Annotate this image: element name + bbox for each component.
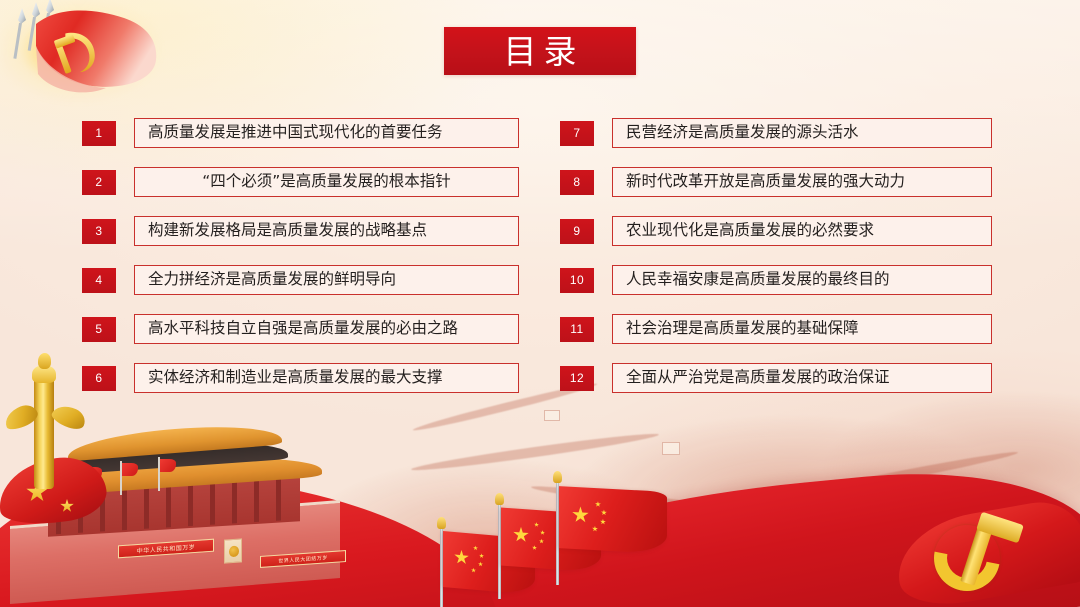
- contents-item[interactable]: 9农业现代化是高质量发展的必然要求: [560, 216, 992, 246]
- contents-item-box[interactable]: 人民幸福安康是高质量发展的最终目的: [612, 265, 992, 295]
- party-flag-decoration: [0, 0, 186, 112]
- page-title: 目录: [444, 27, 636, 75]
- contents-item-number: 1: [82, 121, 116, 146]
- contents-item-label: 人民幸福安康是高质量发展的最终目的: [626, 272, 890, 288]
- contents-item-label: 新时代改革开放是高质量发展的强大动力: [626, 174, 905, 190]
- contents-item-number: 4: [82, 268, 116, 293]
- party-flag-icon: [0, 0, 186, 112]
- great-wall-tower: [544, 410, 560, 421]
- flag-stars: [454, 543, 491, 574]
- contents-item-box[interactable]: 农业现代化是高质量发展的必然要求: [612, 216, 992, 246]
- contents-item-number: 7: [560, 121, 594, 146]
- huabiao-beast: [38, 353, 51, 369]
- contents-item-number: 3: [82, 219, 116, 244]
- contents-item[interactable]: 5高水平科技自立自强是高质量发展的必由之路: [82, 314, 519, 344]
- contents-item-number: 2: [82, 170, 116, 195]
- contents-item-box[interactable]: 全面从严治党是高质量发展的政治保证: [612, 363, 992, 393]
- contents-left-column: 1高质量发展是推进中国式现代化的首要任务2“四个必须”是高质量发展的根本指针3构…: [82, 118, 519, 412]
- contents-item-label: 全力拼经济是高质量发展的鲜明导向: [148, 272, 396, 288]
- contents-item-label: 高质量发展是推进中国式现代化的首要任务: [148, 125, 443, 141]
- contents-item-label: “四个必须”是高质量发展的根本指针: [202, 174, 451, 190]
- huabiao-shaft: [34, 377, 54, 489]
- contents-item-number: 12: [560, 366, 594, 391]
- contents-item-box[interactable]: 新时代改革开放是高质量发展的强大动力: [612, 167, 992, 197]
- contents-item-box[interactable]: 全力拼经济是高质量发展的鲜明导向: [134, 265, 519, 295]
- contents-item-label: 农业现代化是高质量发展的必然要求: [626, 223, 874, 239]
- contents-item-number: 9: [560, 219, 594, 244]
- contents-item-box[interactable]: “四个必须”是高质量发展的根本指针: [134, 167, 519, 197]
- contents-item[interactable]: 6实体经济和制造业是高质量发展的最大支撑: [82, 363, 519, 393]
- contents-item-label: 全面从严治党是高质量发展的政治保证: [626, 370, 890, 386]
- flag-finial: [495, 493, 504, 505]
- contents-item[interactable]: 7民营经济是高质量发展的源头活水: [560, 118, 992, 148]
- contents-item-label: 社会治理是高质量发展的基础保障: [626, 321, 859, 337]
- contents-item-label: 构建新发展格局是高质量发展的战略基点: [148, 223, 427, 239]
- contents-item[interactable]: 2“四个必须”是高质量发展的根本指针: [82, 167, 519, 197]
- contents-item-label: 民营经济是高质量发展的源头活水: [626, 125, 859, 141]
- contents-item[interactable]: 1高质量发展是推进中国式现代化的首要任务: [82, 118, 519, 148]
- contents-item[interactable]: 8新时代改革开放是高质量发展的强大动力: [560, 167, 992, 197]
- flag-stars: [572, 499, 615, 532]
- party-emblem: [912, 499, 1072, 603]
- contents-item[interactable]: 10人民幸福安康是高质量发展的最终目的: [560, 265, 992, 295]
- contents-item-box[interactable]: 高质量发展是推进中国式现代化的首要任务: [134, 118, 519, 148]
- huabiao-column: [8, 339, 82, 489]
- contents-item-number: 5: [82, 317, 116, 342]
- contents-item-number: 10: [560, 268, 594, 293]
- contents-item-label: 实体经济和制造业是高质量发展的最大支撑: [148, 370, 443, 386]
- contents-item-number: 11: [560, 317, 594, 342]
- flag-finial: [553, 471, 562, 483]
- flag-finial: [437, 517, 446, 529]
- contents-item-box[interactable]: 民营经济是高质量发展的源头活水: [612, 118, 992, 148]
- slide-canvas: 中华人民共和国万岁 世界人民大团结万岁: [0, 0, 1080, 607]
- contents-item-box[interactable]: 构建新发展格局是高质量发展的战略基点: [134, 216, 519, 246]
- national-emblem: [224, 538, 242, 563]
- contents-item-number: 8: [560, 170, 594, 195]
- page-title-text: 目录: [497, 35, 584, 68]
- contents-item[interactable]: 11社会治理是高质量发展的基础保障: [560, 314, 992, 344]
- gate-flag: [120, 461, 122, 495]
- contents-item-box[interactable]: 社会治理是高质量发展的基础保障: [612, 314, 992, 344]
- contents-item-box[interactable]: 高水平科技自立自强是高质量发展的必由之路: [134, 314, 519, 344]
- contents-item-box[interactable]: 实体经济和制造业是高质量发展的最大支撑: [134, 363, 519, 393]
- flag-cloth: [559, 486, 667, 554]
- national-flag: [546, 455, 716, 585]
- contents-item[interactable]: 12全面从严治党是高质量发展的政治保证: [560, 363, 992, 393]
- gate-flag: [158, 457, 160, 491]
- contents-item[interactable]: 4全力拼经济是高质量发展的鲜明导向: [82, 265, 519, 295]
- great-wall-tower: [662, 442, 680, 455]
- contents-right-column: 7民营经济是高质量发展的源头活水8新时代改革开放是高质量发展的强大动力9农业现代…: [560, 118, 992, 412]
- contents-item-label: 高水平科技自立自强是高质量发展的必由之路: [148, 321, 458, 337]
- contents-item-number: 6: [82, 366, 116, 391]
- contents-item[interactable]: 3构建新发展格局是高质量发展的战略基点: [82, 216, 519, 246]
